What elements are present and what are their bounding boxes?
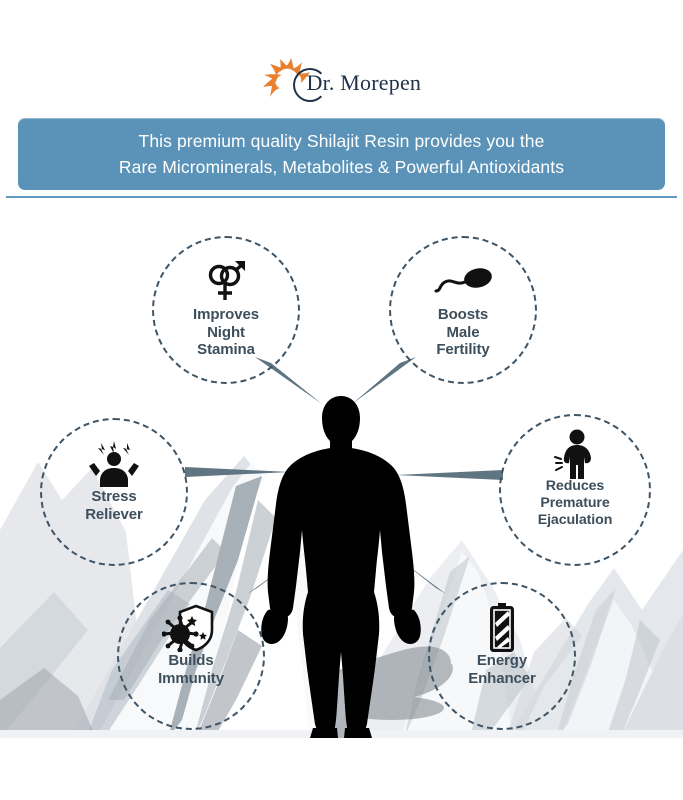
sperm-icon: [432, 260, 494, 304]
shield-virus-icon: [162, 606, 220, 650]
shilajit-benefits-infographic: Dr. Morepen This premium quality Shilaji…: [0, 0, 683, 800]
benefit-stress-reliever[interactable]: Stress Reliever: [40, 418, 188, 566]
benefit-label: Energy Enhancer: [468, 652, 536, 687]
gender-symbols-icon: [203, 260, 249, 304]
benefit-label: Builds Immunity: [158, 652, 224, 687]
header-banner: This premium quality Shilajit Resin prov…: [18, 118, 665, 190]
benefit-label: Boosts Male Fertility: [436, 306, 489, 359]
banner-line-1: This premium quality Shilajit Resin prov…: [139, 128, 545, 154]
benefit-energy-enhancer[interactable]: Energy Enhancer: [428, 582, 576, 730]
banner-line-2: Rare Microminerals, Metabolites & Powerf…: [119, 154, 564, 180]
stressed-person-icon: [86, 442, 142, 486]
benefit-boosts-male-fertility[interactable]: Boosts Male Fertility: [389, 236, 537, 384]
brand-name: Dr. Morepen: [307, 70, 422, 96]
benefit-improves-night-stamina[interactable]: Improves Night Stamina: [152, 236, 300, 384]
benefit-reduces-premature-ejaculation[interactable]: Reduces Premature Ejaculation: [499, 414, 651, 566]
banner-divider: [6, 196, 677, 198]
benefit-label: Improves Night Stamina: [193, 306, 259, 359]
battery-icon: [486, 606, 518, 650]
benefit-builds-immunity[interactable]: Builds Immunity: [117, 582, 265, 730]
benefit-label: Stress Reliever: [85, 488, 143, 523]
brand-logo: Dr. Morepen: [0, 52, 683, 114]
person-standing-icon: [551, 432, 599, 476]
benefit-label: Reduces Premature Ejaculation: [538, 478, 613, 529]
